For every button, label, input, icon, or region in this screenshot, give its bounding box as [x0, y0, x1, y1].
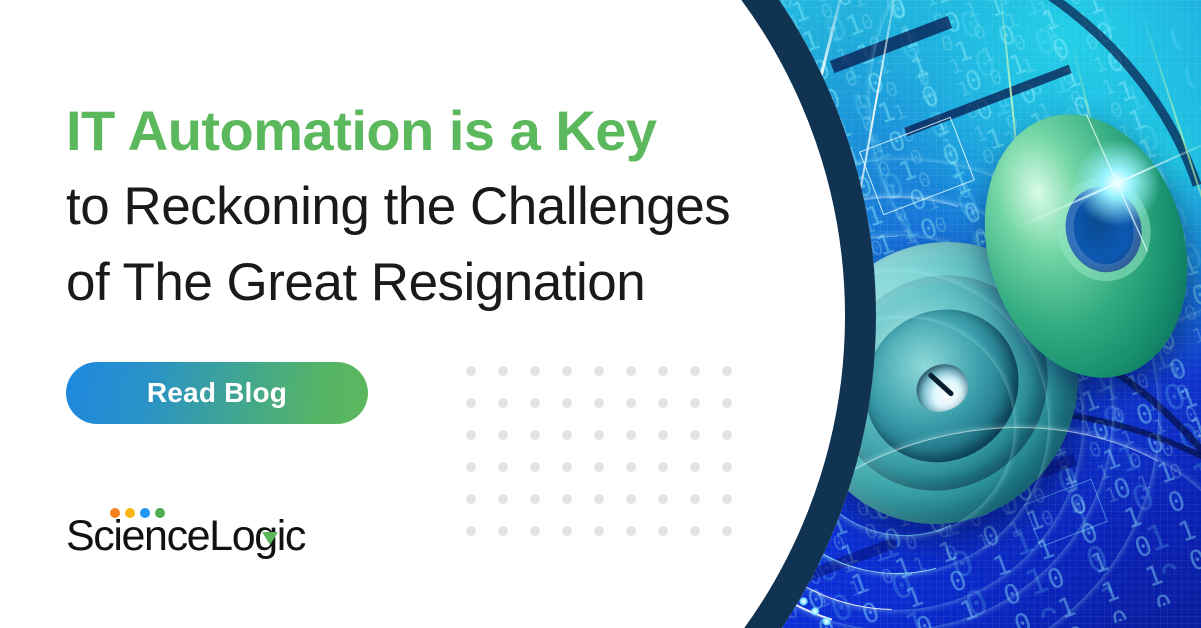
- grid-dot: [562, 398, 572, 408]
- grid-dot: [594, 430, 604, 440]
- grid-dot: [722, 398, 732, 408]
- grid-dot: [562, 462, 572, 472]
- grid-dot: [626, 366, 636, 376]
- grid-dot: [722, 366, 732, 376]
- logo-dot-blue: [140, 508, 150, 518]
- promo-banner: 1 0 1 1 0 0 1 0 1 1 0 1 0 0 1 1 0 1 0 0 …: [0, 0, 1201, 628]
- logo-dot-orange: [110, 508, 120, 518]
- grid-dot: [626, 526, 636, 536]
- grid-dot: [498, 366, 508, 376]
- grid-dot: [626, 494, 636, 504]
- grid-dot: [690, 430, 700, 440]
- grid-dot: [498, 462, 508, 472]
- grid-dot: [626, 462, 636, 472]
- grid-dot: [466, 462, 476, 472]
- grid-dot: [466, 526, 476, 536]
- grid-dot: [690, 494, 700, 504]
- grid-dot: [722, 430, 732, 440]
- grid-dot: [562, 366, 572, 376]
- headline-line-2: to Reckoning the Challenges: [66, 169, 786, 245]
- grid-dot: [530, 462, 540, 472]
- grid-dot: [690, 462, 700, 472]
- grid-dot: [658, 430, 668, 440]
- grid-dot: [658, 398, 668, 408]
- grid-dot: [466, 366, 476, 376]
- grid-dot: [658, 366, 668, 376]
- grid-dot: [466, 430, 476, 440]
- grid-dot: [594, 398, 604, 408]
- logo-dot-group: [110, 508, 165, 518]
- grid-dot: [594, 526, 604, 536]
- grid-dot: [690, 366, 700, 376]
- page-title: IT Automation is a Key to Reckoning the …: [66, 93, 786, 321]
- grid-dot: [466, 398, 476, 408]
- grid-dot: [498, 398, 508, 408]
- grid-dot: [530, 366, 540, 376]
- grid-dot: [530, 526, 540, 536]
- grid-dot: [498, 430, 508, 440]
- grid-dot: [562, 494, 572, 504]
- logo-dot-amber: [125, 508, 135, 518]
- read-blog-button[interactable]: Read Blog: [66, 362, 368, 424]
- grid-dot: [722, 494, 732, 504]
- grid-dot: [562, 526, 572, 536]
- headline-line-3: of The Great Resignation: [66, 245, 786, 321]
- headline-line-1: IT Automation is a Key: [66, 93, 786, 169]
- grid-dot: [498, 494, 508, 504]
- grid-dot: [722, 462, 732, 472]
- grid-dot: [562, 430, 572, 440]
- grid-dot: [594, 462, 604, 472]
- logo-dot-green: [155, 508, 165, 518]
- grid-dot: [626, 430, 636, 440]
- grid-dot: [658, 526, 668, 536]
- key-bow-hole: [1056, 178, 1151, 281]
- grid-dot: [690, 526, 700, 536]
- grid-dot: [658, 494, 668, 504]
- grid-dot: [498, 526, 508, 536]
- grid-dot: [530, 398, 540, 408]
- grid-dot: [658, 462, 668, 472]
- grid-dot: [594, 366, 604, 376]
- grid-dot: [594, 494, 604, 504]
- grid-dot: [466, 494, 476, 504]
- grid-dot: [530, 430, 540, 440]
- grid-dot: [626, 398, 636, 408]
- grid-dot: [690, 398, 700, 408]
- content-panel: IT Automation is a Key to Reckoning the …: [0, 0, 800, 628]
- grid-dot: [530, 494, 540, 504]
- grid-dot: [722, 526, 732, 536]
- decorative-dot-grid: [466, 366, 754, 558]
- logo-triangle-accent: [262, 532, 278, 545]
